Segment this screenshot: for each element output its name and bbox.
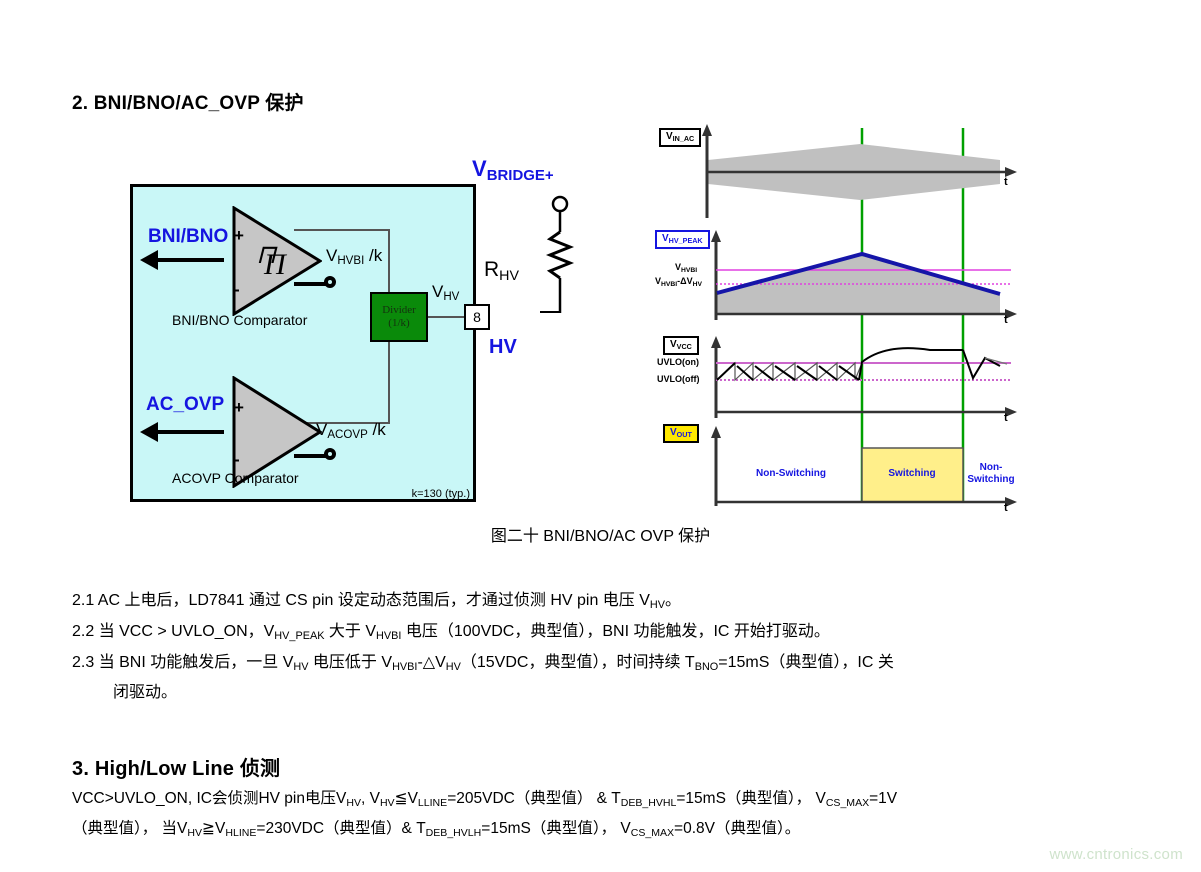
timing-diagram: VIN_AC t VHV_PEAK VHVBI VH bbox=[655, 122, 1025, 512]
region-non-switching-2: Non- Switching bbox=[961, 462, 1021, 486]
panel-vin-ac: VIN_AC t bbox=[655, 122, 1025, 222]
bni-plus-input-sign: + bbox=[234, 226, 244, 246]
section-3-heading: 3. High/Low Line 侦测 bbox=[72, 752, 280, 781]
panel-vout: VOUT Non-Switching Switching Non- Switch… bbox=[655, 424, 1025, 512]
bni-plus-feedback-wire bbox=[294, 229, 390, 231]
paragraph-2-2: 2.2 当 VCC > UVLO_ON，VHV_PEAK 大于 VHVBI 电压… bbox=[72, 617, 830, 651]
rhv-resistor-symbol bbox=[540, 192, 600, 322]
k-value-note: k=130 (typ.) bbox=[412, 488, 470, 500]
vhvbi-threshold-label: VHVBI bbox=[675, 262, 697, 274]
vin-ac-time-axis-label: t bbox=[1004, 176, 1008, 188]
vout-time-axis-label: t bbox=[1004, 502, 1008, 514]
bni-reference-terminal bbox=[324, 276, 336, 288]
bni-minus-input-sign: - bbox=[234, 280, 240, 300]
vhv-peak-panel-label: VHV_PEAK bbox=[655, 230, 710, 249]
bni-output-arrow-icon bbox=[140, 250, 158, 270]
paragraph-2-3-continued: 闭驱动。 bbox=[113, 678, 177, 708]
acovp-output-wire bbox=[154, 430, 224, 434]
acovp-reference-terminal bbox=[324, 448, 336, 460]
bni-bno-output-label: BNI/BNO bbox=[148, 226, 228, 248]
acovp-minus-input-sign: - bbox=[234, 450, 240, 470]
section-3-line-1: VCC>UVLO_ON, IC会侦测HV pin电压VHV, VHV≦VLLIN… bbox=[72, 784, 897, 818]
hv-pin-label: HV bbox=[489, 336, 517, 359]
panel-vhv-peak: VHV_PEAK VHVBI VHVBI-ΔVHV t bbox=[655, 230, 1025, 325]
vout-panel-label: VOUT bbox=[663, 424, 699, 443]
acovp-reference-label: VACOVP /k bbox=[316, 420, 386, 441]
document-page: 2. BNI/BNO/AC_OVP 保护 BNI/BNO Π ⊓ + - VHV… bbox=[0, 0, 1201, 872]
ac-ovp-output-label: AC_OVP bbox=[146, 394, 224, 416]
hysteresis-icon: ⊓ bbox=[256, 240, 276, 270]
pin-8: 8 bbox=[464, 304, 490, 330]
acovp-comparator-caption: ACOVP Comparator bbox=[172, 470, 299, 486]
paragraph-2-1: 2.1 AC 上电后，LD7841 通过 CS pin 设定动态范围后，才通过侦… bbox=[72, 586, 681, 620]
divider-block: Divider (1/k) bbox=[370, 292, 428, 342]
divider-bottom-wire bbox=[388, 342, 390, 422]
panel-vcc: VVCC UVLO(on) UVLO(off) t bbox=[655, 336, 1025, 426]
section-3-line-2: （典型值）， 当VHV≧VHLINE=230VDC（典型值）& TDEB_HVL… bbox=[72, 814, 800, 848]
acovp-plus-input-sign: + bbox=[234, 398, 244, 418]
vin-ac-panel-label: VIN_AC bbox=[659, 128, 701, 147]
vhvbi-delta-threshold-label: VHVBI-ΔVHV bbox=[655, 276, 702, 288]
region-switching: Switching bbox=[871, 468, 953, 480]
paragraph-2-3: 2.3 当 BNI 功能触发后，一旦 VHV 电压低于 VHVBI-△VHV（1… bbox=[72, 648, 894, 682]
vhv-label: VHV bbox=[432, 282, 459, 303]
vbridge-plus-label: VBRIDGE+ bbox=[472, 156, 554, 184]
uvlo-off-label: UVLO(off) bbox=[657, 374, 700, 384]
bni-minus-wire bbox=[294, 282, 326, 286]
vhv-peak-time-axis-label: t bbox=[1004, 314, 1008, 326]
vcc-panel-label: VVCC bbox=[663, 336, 699, 355]
uvlo-on-label: UVLO(on) bbox=[657, 357, 699, 367]
bni-comparator-caption: BNI/BNO Comparator bbox=[172, 312, 307, 328]
region-non-switching-1: Non-Switching bbox=[731, 468, 851, 480]
circuit-diagram: BNI/BNO Π ⊓ + - VHVBI /k BNI/BNO Compara… bbox=[130, 184, 480, 506]
section-2-heading: 2. BNI/BNO/AC_OVP 保护 bbox=[72, 88, 304, 115]
rhv-label: RHV bbox=[484, 258, 519, 284]
site-watermark: www.cntronics.com bbox=[1050, 846, 1183, 863]
figure-caption: 图二十 BNI/BNO/AC OVP 保护 bbox=[0, 522, 1201, 546]
vcc-time-axis-label: t bbox=[1004, 412, 1008, 424]
acovp-output-arrow-icon bbox=[140, 422, 158, 442]
divider-to-pin-wire bbox=[428, 316, 466, 318]
bni-reference-label: VHVBI /k bbox=[326, 246, 382, 267]
acovp-minus-wire bbox=[294, 454, 326, 458]
bni-output-wire bbox=[154, 258, 224, 262]
